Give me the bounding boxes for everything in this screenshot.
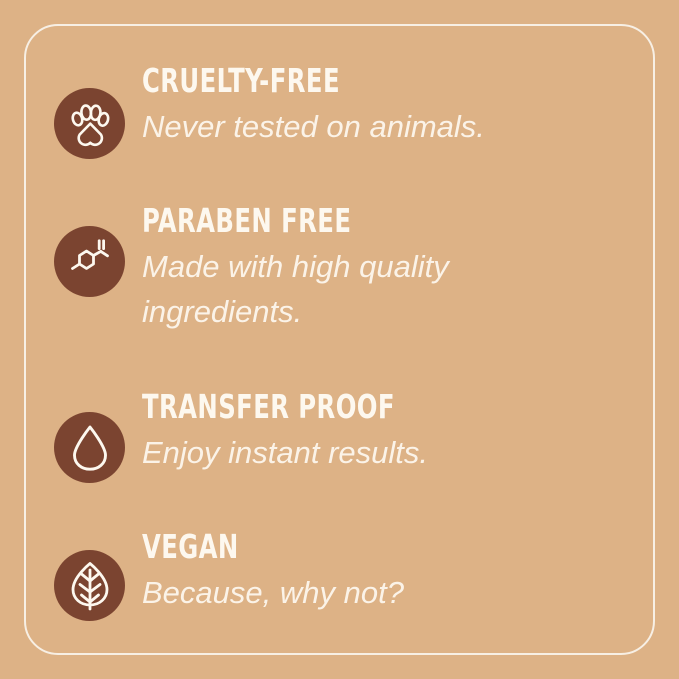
- benefit-description: Enjoy instant results.: [142, 430, 450, 475]
- benefit-text-block: CRUELTY-FREE Never tested on animals.: [142, 62, 485, 149]
- benefit-description: Made with high quality ingredients.: [142, 244, 497, 334]
- benefits-infographic: CRUELTY-FREE Never tested on animals.: [0, 0, 679, 679]
- water-droplet-icon: [54, 412, 125, 483]
- benefit-item-vegan: VEGAN Because, why not?: [54, 528, 404, 621]
- benefit-title: CRUELTY-FREE: [142, 62, 423, 100]
- benefit-item-paraben-free: PARABEN FREE Made with high quality ingr…: [54, 202, 497, 334]
- benefits-list: CRUELTY-FREE Never tested on animals.: [0, 0, 679, 679]
- benefit-item-transfer-proof: TRANSFER PROOF Enjoy instant results.: [54, 388, 450, 483]
- benefit-title: TRANSFER PROOF: [142, 388, 395, 426]
- benefit-description: Never tested on animals.: [142, 104, 485, 149]
- benefit-text-block: PARABEN FREE Made with high quality ingr…: [142, 202, 497, 334]
- benefit-text-block: TRANSFER PROOF Enjoy instant results.: [142, 388, 450, 475]
- benefit-text-block: VEGAN Because, why not?: [142, 528, 404, 615]
- paw-print-icon: [54, 88, 125, 159]
- benefit-item-cruelty-free: CRUELTY-FREE Never tested on animals.: [54, 62, 485, 159]
- benefit-title: VEGAN: [142, 528, 357, 566]
- benefit-title: PARABEN FREE: [142, 202, 433, 240]
- benefit-description: Because, why not?: [142, 570, 404, 615]
- molecule-icon: [54, 226, 125, 297]
- leaf-icon: [54, 550, 125, 621]
